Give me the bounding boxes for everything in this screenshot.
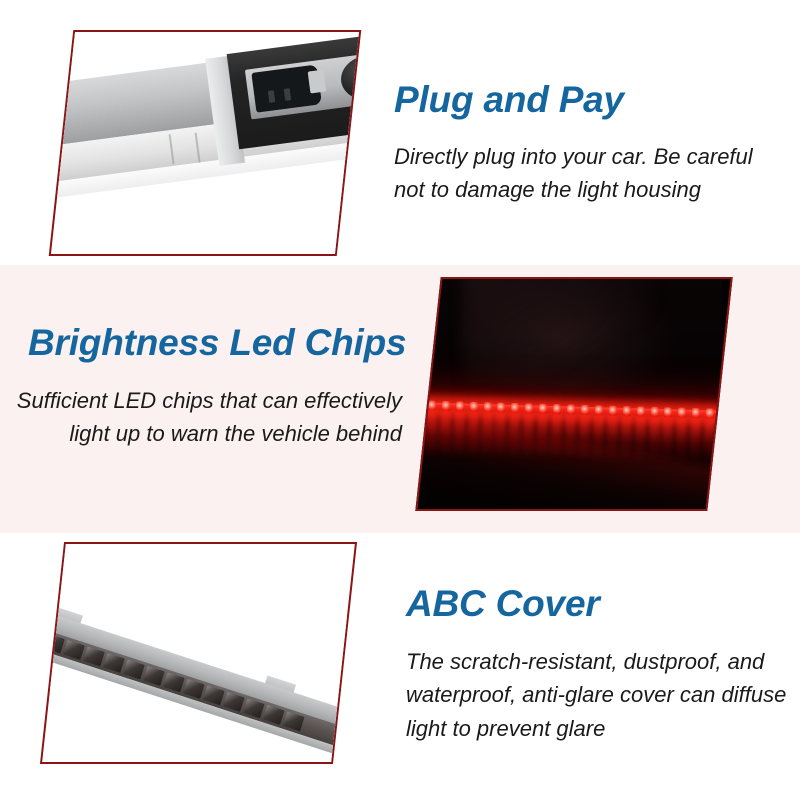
led-chip-group — [415, 399, 732, 408]
lens-cell — [143, 666, 165, 686]
led-beam — [508, 412, 521, 458]
lens-cell — [263, 705, 285, 725]
photo-frame-plug-and-pay — [49, 30, 362, 256]
lens-cell — [283, 711, 305, 731]
section-heading-plug-and-pay: Plug and Pay — [394, 79, 624, 121]
lens-cell — [183, 679, 205, 699]
led-beam — [466, 411, 479, 457]
lens-cell — [63, 640, 85, 660]
dark-background-shape — [464, 277, 654, 385]
lens-cell — [163, 672, 185, 692]
led-beam — [425, 409, 438, 455]
led-beam — [633, 415, 646, 461]
led-beam — [480, 411, 493, 457]
led-beam — [605, 414, 618, 460]
abc-cover-photo — [50, 542, 347, 764]
led-beam — [661, 416, 674, 462]
red-led-strip-photo — [426, 277, 722, 511]
led-beam — [619, 415, 632, 461]
led-beam — [675, 416, 688, 462]
led-beam — [550, 413, 563, 459]
led-beam — [591, 414, 604, 460]
led-beam — [578, 414, 591, 460]
led-beam — [536, 413, 549, 459]
section-body-brightness-led-chips: Sufficient LED chips that can effectivel… — [16, 384, 402, 451]
light-bar-connector-photo — [59, 30, 351, 256]
section-body-abc-cover: The scratch-resistant, dustproof, and wa… — [406, 645, 792, 745]
led-beam — [647, 416, 660, 462]
connector-window — [245, 44, 361, 120]
lens-cell — [123, 660, 145, 680]
infographic-page: Plug and Pay Directly plug into your car… — [0, 0, 800, 800]
light-bar-body — [49, 36, 362, 205]
lens-cell — [83, 647, 105, 667]
socket-notch — [308, 70, 327, 94]
lens-cell — [203, 685, 225, 705]
led-beam — [564, 413, 577, 459]
lens-cell — [223, 692, 245, 712]
led-beam — [438, 410, 451, 456]
led-beam — [494, 411, 507, 457]
led-beam — [522, 412, 535, 458]
led-beam — [689, 417, 702, 463]
lens-cell — [103, 653, 125, 673]
lens-cell — [243, 698, 265, 718]
section-heading-brightness-led-chips: Brightness Led Chips — [28, 322, 406, 364]
black-connector-housing — [227, 30, 362, 149]
photo-frame-brightness-led-chips — [415, 277, 732, 511]
section-heading-abc-cover: ABC Cover — [406, 583, 600, 625]
abc-cover-light-bar — [40, 607, 357, 764]
section-body-plug-and-pay: Directly plug into your car. Be careful … — [394, 140, 786, 207]
led-beam — [452, 410, 465, 456]
led-strip-rail — [415, 399, 732, 421]
photo-frame-abc-cover — [40, 542, 357, 764]
